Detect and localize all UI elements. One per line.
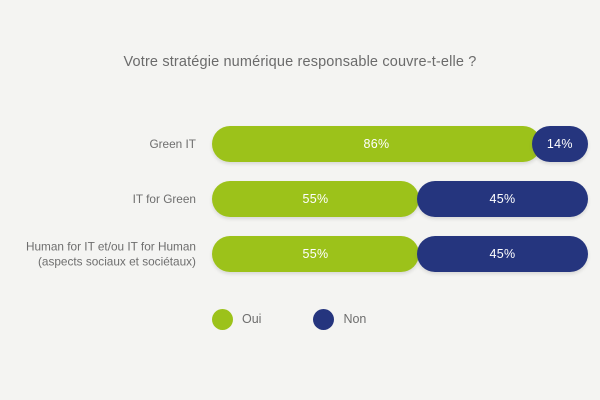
category-label-0: Green IT xyxy=(0,137,196,152)
bar-track-0: 86% 14% xyxy=(212,126,588,162)
legend-label-oui: Oui xyxy=(242,312,261,326)
bar-segment-yes-0[interactable]: 86% xyxy=(212,126,541,162)
category-label-line: Human for IT et/ou IT for Human xyxy=(26,240,196,254)
bar-value-no-0: 14% xyxy=(547,137,573,151)
category-label-1: IT for Green xyxy=(0,192,196,207)
bar-value-no-2: 45% xyxy=(490,247,516,261)
chart-legend: Oui Non xyxy=(212,308,418,330)
bar-row: Human for IT et/ou IT for Human (aspects… xyxy=(0,236,600,272)
stacked-bar-chart: Votre stratégie numérique responsable co… xyxy=(0,0,600,400)
bar-value-yes-2: 55% xyxy=(302,247,328,261)
legend-label-non: Non xyxy=(343,312,366,326)
bar-track-1: 55% 45% xyxy=(212,181,588,217)
legend-item-oui[interactable]: Oui xyxy=(212,309,261,330)
bar-row: Green IT 86% 14% xyxy=(0,126,600,162)
bar-value-no-1: 45% xyxy=(490,192,516,206)
bar-row: IT for Green 55% 45% xyxy=(0,181,600,217)
legend-item-non[interactable]: Non xyxy=(313,309,366,330)
bar-segment-no-2[interactable]: 45% xyxy=(417,236,588,272)
bar-segment-yes-2[interactable]: 55% xyxy=(212,236,419,272)
bar-track-2: 55% 45% xyxy=(212,236,588,272)
bar-value-yes-1: 55% xyxy=(302,192,328,206)
chart-title: Votre stratégie numérique responsable co… xyxy=(0,54,600,70)
category-label-line: Green IT xyxy=(149,137,196,151)
category-label-line: IT for Green xyxy=(133,192,196,206)
bar-segment-yes-1[interactable]: 55% xyxy=(212,181,419,217)
bar-segment-no-1[interactable]: 45% xyxy=(417,181,588,217)
category-label-line: (aspects sociaux et sociétaux) xyxy=(0,254,196,269)
legend-swatch-icon-oui xyxy=(212,309,233,330)
category-label-2: Human for IT et/ou IT for Human (aspects… xyxy=(0,240,196,269)
legend-swatch-icon-non xyxy=(313,309,334,330)
bar-segment-no-0[interactable]: 14% xyxy=(532,126,588,162)
bar-value-yes-0: 86% xyxy=(364,137,390,151)
